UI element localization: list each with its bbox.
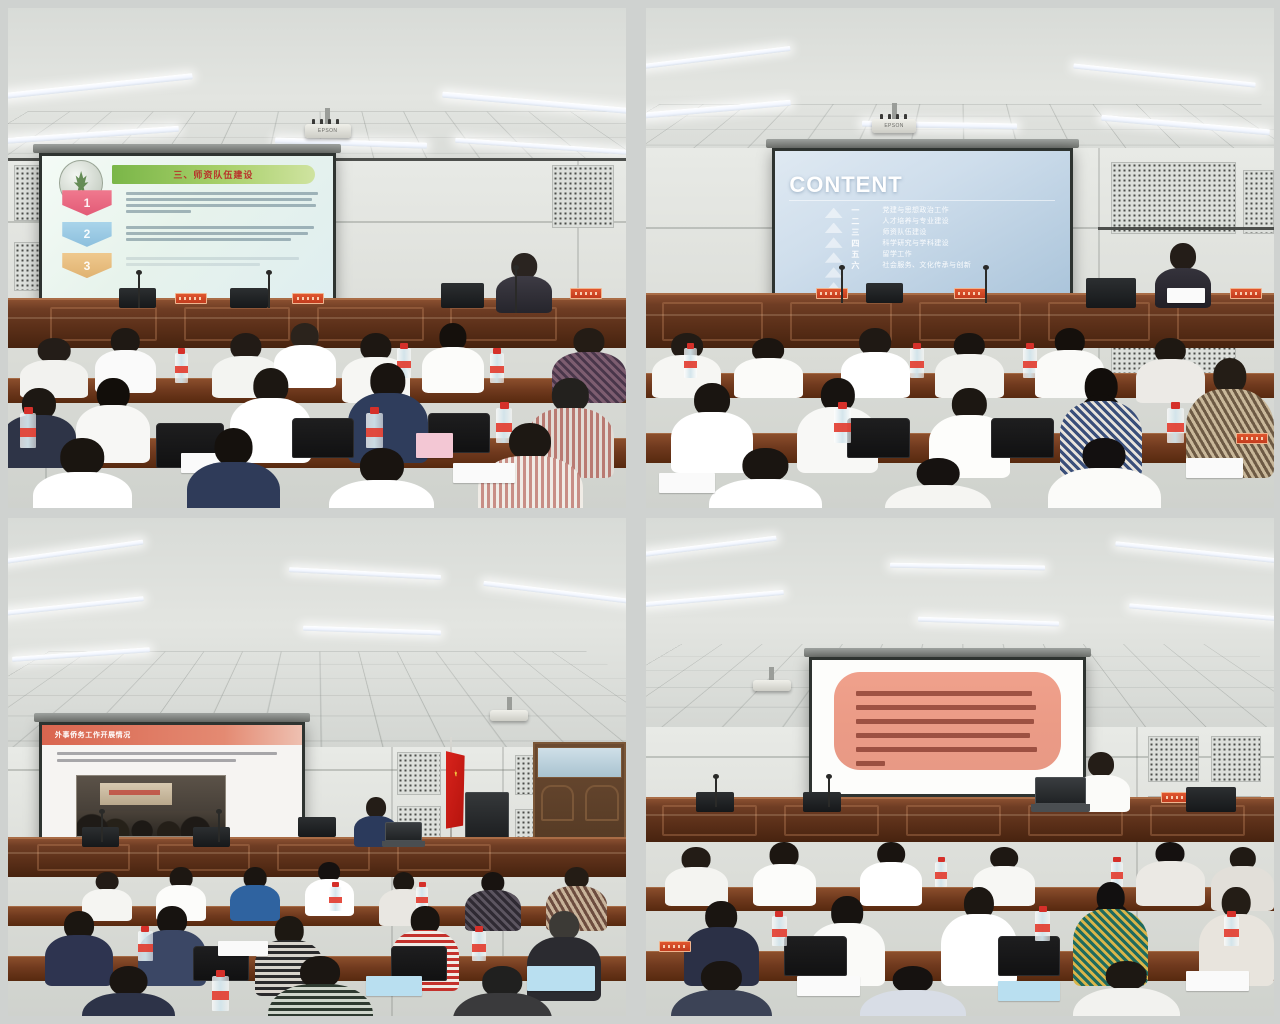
slide-paragraph	[126, 257, 318, 269]
agenda-label: 留学工作	[882, 249, 912, 259]
slide-body-text	[57, 752, 286, 766]
presenter-head	[1170, 243, 1196, 270]
slide-header: 三、师资队伍建设	[112, 165, 315, 184]
presenter-body	[496, 276, 552, 313]
presenter-laptop[interactable]	[385, 822, 422, 847]
presenter-female	[496, 253, 552, 313]
laptop-base	[1031, 804, 1089, 812]
audience-member	[1073, 961, 1180, 1016]
laptop-lid	[385, 822, 422, 841]
projector-mount	[507, 697, 512, 711]
handout	[998, 981, 1061, 1001]
agenda-number: 五	[851, 249, 882, 260]
ceiling-light	[303, 626, 442, 636]
projector: EPSON	[872, 103, 916, 135]
photo-frame: 外事侨务工作开展情况	[8, 518, 626, 1016]
audience-member	[33, 438, 132, 508]
agenda-number: 二	[851, 216, 882, 227]
agenda-item: 五 留学工作	[851, 249, 1058, 260]
slide-content-agenda: CONTENT 一 党建与思想政治工作	[775, 151, 1070, 300]
agenda-label: 社会服务、文化传承与创新	[882, 260, 971, 270]
slide-title: CONTENT	[789, 172, 902, 198]
agenda-label: 人才培养与专业建设	[882, 216, 949, 226]
screen-surface: 外事侨务工作开展情况	[39, 722, 305, 847]
screen-surface	[809, 657, 1085, 796]
slide-paragraph	[126, 226, 318, 244]
chevron-number: 3	[84, 259, 91, 273]
ceiling-light	[646, 46, 791, 73]
agenda-list: 一 党建与思想政治工作 二 人才培养与专业建设 三 师资队伍建设	[851, 205, 1058, 271]
audience-member	[860, 966, 967, 1016]
flag-star-icon	[454, 770, 457, 778]
desk-monitor	[298, 817, 335, 837]
projector	[490, 697, 528, 725]
ceiling-light	[890, 562, 1045, 570]
projector: EPSON	[305, 108, 351, 140]
agenda-number: 四	[851, 238, 882, 249]
ceiling-light	[1129, 603, 1274, 621]
slide-statement	[812, 660, 1082, 793]
ceiling-light	[483, 580, 626, 604]
audience-member	[465, 872, 521, 932]
desk-monitor	[1086, 278, 1136, 308]
photo-collage: EPSON 三、师资队伍建设	[0, 0, 1280, 1024]
presenter-head	[366, 797, 386, 818]
screen-housing	[34, 713, 310, 722]
slide-header-text: 三、师资队伍建设	[173, 168, 253, 181]
screen-housing	[804, 648, 1091, 657]
audience-member	[187, 428, 280, 508]
presenter-notes	[1167, 288, 1205, 303]
desk-monitor	[230, 288, 267, 308]
audience-member	[1048, 438, 1161, 508]
handout	[218, 941, 267, 956]
photo-frame: EPSON 三、师资队伍建设	[8, 8, 626, 508]
projector-body: EPSON	[872, 119, 916, 133]
ceiling-light	[289, 567, 441, 580]
audience-member	[753, 842, 816, 907]
chevron-step-1: 1	[62, 190, 111, 215]
projector-body	[490, 710, 528, 721]
statement-box	[834, 672, 1061, 769]
screen-housing	[766, 139, 1079, 148]
name-plate	[1230, 288, 1262, 299]
agenda-label: 科学研究与学科建设	[882, 238, 949, 248]
screen-surface: CONTENT 一 党建与思想政治工作	[772, 148, 1073, 303]
wall-grille	[1211, 736, 1261, 782]
audience-member	[329, 448, 434, 508]
slide-divider	[789, 200, 1055, 201]
audience-member	[422, 323, 484, 393]
laptop-base	[382, 841, 425, 846]
name-plate	[570, 288, 602, 299]
audience-member	[82, 966, 175, 1016]
projector-body	[753, 680, 791, 691]
flag-cloth	[446, 751, 465, 829]
presenter-laptop[interactable]	[1035, 777, 1085, 812]
projector-brand-label: EPSON	[305, 128, 351, 134]
photo-frame: EPSON CONTENT	[646, 8, 1274, 508]
slide-faculty-building: 三、师资队伍建设 1 2 3	[42, 156, 333, 305]
ceiling-light	[918, 616, 1059, 626]
projector	[753, 667, 791, 695]
national-flag	[434, 737, 465, 837]
desk-monitor	[1186, 787, 1236, 812]
slide-header-text: 外事侨务工作开展情况	[55, 730, 131, 740]
audience-member	[885, 458, 992, 508]
handout	[659, 473, 716, 493]
ceiling-light	[646, 590, 784, 607]
projector-body: EPSON	[305, 124, 351, 138]
ceiling-light	[1115, 541, 1274, 564]
wall-grille	[552, 165, 614, 228]
agenda-item: 四 科学研究与学科建设	[851, 238, 1058, 249]
ceiling-light	[8, 540, 143, 568]
laptop-lid	[1035, 777, 1085, 804]
presenter-head	[1088, 752, 1114, 777]
agenda-item: 六 社会服务、文化传承与创新	[851, 260, 1058, 271]
handout	[366, 976, 422, 996]
stage-desk	[646, 797, 1274, 842]
agenda-item: 二 人才培养与专业建设	[851, 216, 1058, 227]
chevron-step-2: 2	[62, 222, 111, 247]
agenda-label: 师资队伍建设	[882, 227, 926, 237]
panel-bottom-left: 外事侨务工作开展情况	[0, 512, 636, 1024]
projection-screen	[809, 657, 1085, 796]
handout	[527, 966, 595, 991]
projection-screen: CONTENT 一 党建与思想政治工作	[772, 148, 1073, 303]
panel-top-left: EPSON 三、师资队伍建设	[0, 0, 636, 512]
wall-grille	[1148, 736, 1198, 782]
agenda-number: 三	[851, 227, 882, 238]
handout	[1186, 458, 1243, 478]
ceiling-light	[8, 596, 144, 617]
audience-member	[709, 448, 822, 508]
chevron-number: 1	[84, 196, 91, 210]
panel-bottom-right	[636, 512, 1280, 1024]
desk-monitor	[193, 827, 230, 847]
slide-work-summary: 外事侨务工作开展情况	[42, 725, 302, 844]
ceiling-light	[1073, 63, 1255, 87]
desk-monitor	[441, 283, 484, 308]
projection-screen: 三、师资队伍建设 1 2 3	[39, 153, 336, 308]
handout	[797, 976, 860, 996]
audience-member	[230, 867, 279, 922]
handout	[453, 463, 515, 483]
chevron-step-3: 3	[62, 253, 111, 278]
agenda-item: 一 党建与思想政治工作	[851, 205, 1058, 216]
slide-paragraph	[126, 192, 318, 216]
chevron-number: 2	[84, 227, 91, 241]
screen-housing	[33, 144, 341, 153]
agenda-label: 党建与思想政治工作	[882, 205, 949, 215]
projector-mount	[769, 667, 774, 681]
door-transom-window	[537, 747, 622, 778]
slide-header: 外事侨务工作开展情况	[42, 725, 302, 745]
panel-top-right: EPSON CONTENT	[636, 0, 1280, 512]
agenda-item: 三 师资队伍建设	[851, 227, 1058, 238]
projector-brand-label: EPSON	[872, 123, 916, 129]
handout	[1186, 971, 1249, 991]
projection-screen: 外事侨务工作开展情况	[39, 722, 305, 847]
wall-grille	[1111, 162, 1237, 234]
agenda-number: 六	[851, 260, 882, 271]
audience-member	[268, 956, 373, 1016]
agenda-number: 一	[851, 205, 882, 216]
audience-member	[671, 961, 771, 1016]
photo-frame	[646, 518, 1274, 1016]
wall-grille	[1243, 170, 1274, 235]
ceiling-light	[646, 536, 777, 560]
ceiling-light	[8, 73, 192, 101]
screen-surface: 三、师资队伍建设 1 2 3	[39, 153, 336, 308]
audience-member	[665, 847, 728, 907]
embedded-photo-screen	[100, 783, 171, 804]
